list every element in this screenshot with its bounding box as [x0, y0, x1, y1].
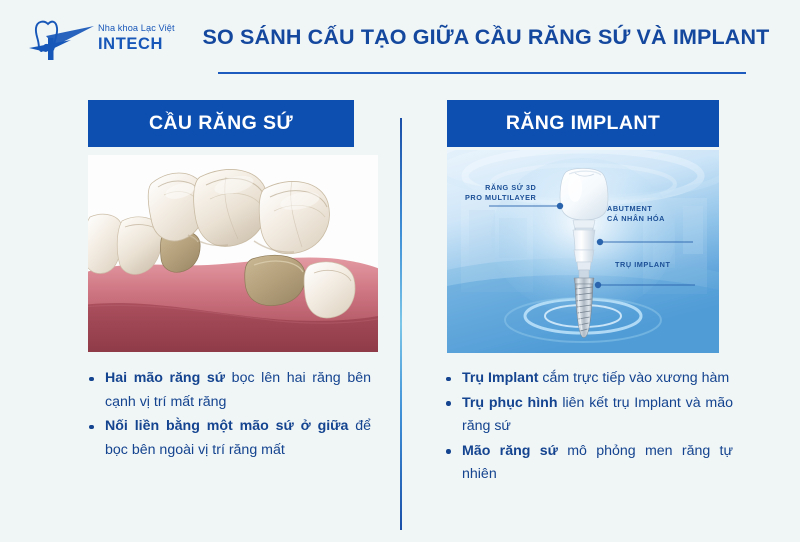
brand-logo: Nha khoa Lạc Việt INTECH [24, 16, 176, 64]
implant-label-abutment: ABUTMENT CÁ NHÂN HÓA [607, 204, 665, 223]
title-underline [218, 72, 746, 74]
brand-name: Nha khoa Lạc Việt [98, 22, 184, 34]
column-cau-rang-su: CẦU RĂNG SỨ [88, 100, 354, 147]
tooth-logo-icon [24, 18, 102, 62]
bullet-bold-text: Mão răng sứ [462, 443, 558, 459]
dental-implant-illustration: RĂNG SỨ 3D PRO MULTILAYER ABUTMENT CÁ NH… [447, 150, 719, 353]
list-item: Trụ Implant cắm trực tiếp vào xương hàm [443, 367, 733, 391]
dental-bridge-illustration [88, 155, 378, 352]
implant-label-abutment-line1: ABUTMENT [607, 204, 665, 214]
infographic-page: Nha khoa Lạc Việt INTECH SO SÁNH CẤU TẠO… [0, 0, 800, 542]
brand-logo-text: Nha khoa Lạc Việt INTECH [98, 22, 184, 53]
bullet-bold-text: Hai mão răng sứ [105, 370, 225, 386]
dental-implant-graphic [447, 150, 719, 353]
implant-label-crown-line2: PRO MULTILAYER [465, 193, 536, 203]
implant-label-post-line1: TRỤ IMPLANT [615, 260, 671, 270]
column-rang-implant: RĂNG IMPLANT [447, 100, 719, 147]
brand-subname: INTECH [98, 35, 184, 53]
list-item: Mão răng sứ mô phỏng men răng tự nhiên [443, 440, 733, 487]
list-item: Trụ phục hình liên kết trụ Implant và mã… [443, 392, 733, 439]
column-heading-right: RĂNG IMPLANT [447, 100, 719, 147]
page-title: SO SÁNH CẤU TẠO GIỮA CẦU RĂNG SỨ VÀ IMPL… [186, 25, 786, 50]
bullet-list-right: Trụ Implant cắm trực tiếp vào xương hàm … [443, 367, 733, 488]
page-header: Nha khoa Lạc Việt INTECH SO SÁNH CẤU TẠO… [0, 0, 800, 80]
bullet-bold-text: Trụ Implant [462, 370, 538, 386]
bullet-rest-text: cắm trực tiếp vào xương hàm [538, 370, 729, 386]
bullet-bold-text: Nối liền bằng một mão sứ ở giữa [105, 418, 348, 434]
implant-label-crown: RĂNG SỨ 3D PRO MULTILAYER [465, 183, 536, 202]
column-heading-left: CẦU RĂNG SỨ [88, 100, 354, 147]
implant-label-abutment-line2: CÁ NHÂN HÓA [607, 214, 665, 224]
list-item: Nối liền bằng một mão sứ ở giữa để bọc b… [86, 415, 371, 462]
bullet-bold-text: Trụ phục hình [462, 395, 558, 411]
list-item: Hai mão răng sứ bọc lên hai răng bên cạn… [86, 367, 371, 414]
dental-bridge-graphic [88, 155, 378, 352]
bullet-items-left: Hai mão răng sứ bọc lên hai răng bên cạn… [86, 367, 371, 462]
column-divider [400, 118, 402, 530]
implant-label-crown-line1: RĂNG SỨ 3D [465, 183, 536, 193]
bullet-items-right: Trụ Implant cắm trực tiếp vào xương hàm … [443, 367, 733, 487]
implant-label-post: TRỤ IMPLANT [615, 260, 671, 270]
bullet-list-left: Hai mão răng sứ bọc lên hai răng bên cạn… [86, 367, 371, 463]
